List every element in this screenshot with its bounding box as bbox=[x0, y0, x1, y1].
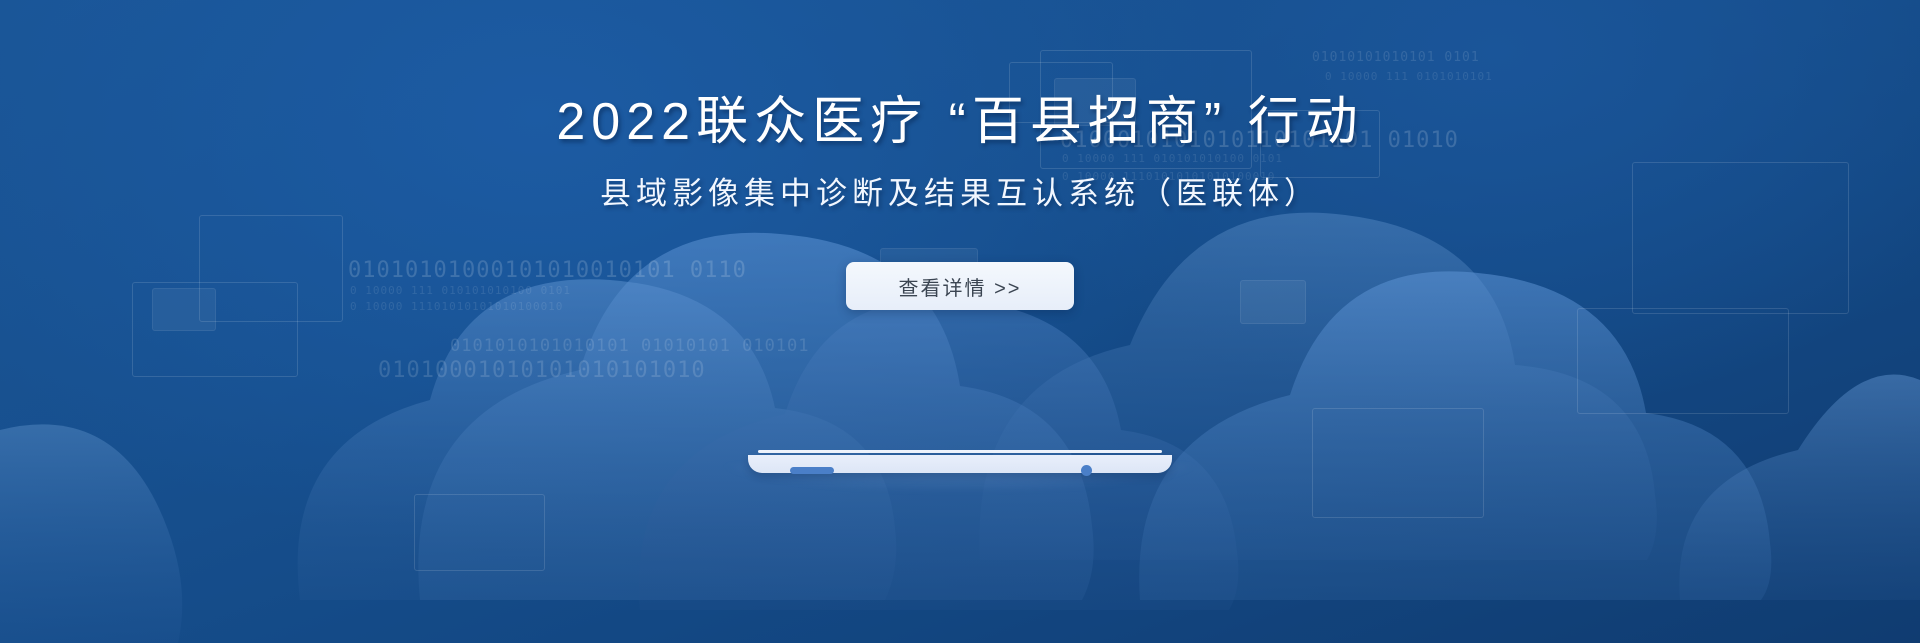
device-camera-dot-icon bbox=[1081, 465, 1092, 476]
view-details-button[interactable]: 查看详情 >> bbox=[846, 262, 1074, 310]
device-body bbox=[748, 455, 1172, 473]
banner-content: 2022联众医疗 “百县招商” 行动 县域影像集中诊断及结果互认系统（医联体） … bbox=[0, 0, 1920, 643]
device-speaker-pill-icon bbox=[790, 467, 834, 474]
view-details-label: 查看详情 >> bbox=[899, 272, 1022, 301]
banner-subtitle: 县域影像集中诊断及结果互认系统（医联体） bbox=[600, 178, 1320, 209]
promo-banner: 01010101000101010010101 0110 0 10000 111… bbox=[0, 0, 1920, 643]
tablet-device-edge bbox=[748, 450, 1172, 478]
banner-title: 2022联众医疗 “百县招商” 行动 bbox=[556, 96, 1363, 148]
device-screen-edge bbox=[758, 450, 1162, 453]
